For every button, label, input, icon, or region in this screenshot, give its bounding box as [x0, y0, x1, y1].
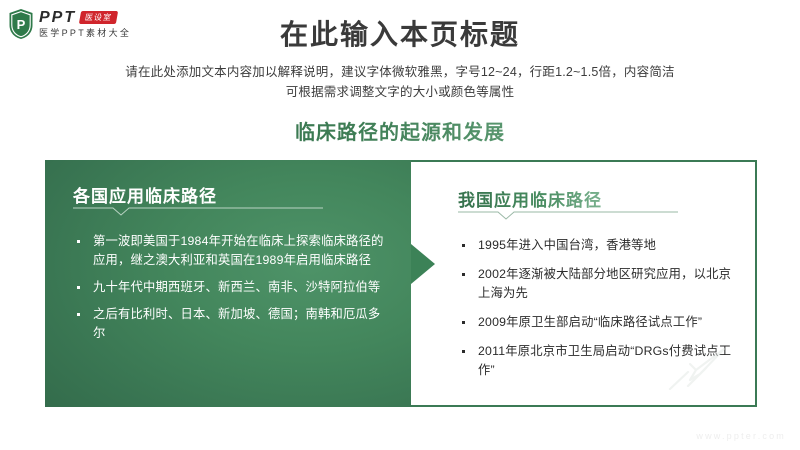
- heading-rule-icon: [73, 207, 323, 216]
- subtitle-line-1: 请在此处添加文本内容加以解释说明，建议字体微软雅黑，字号12~24，行距1.2~…: [0, 62, 800, 82]
- list-item: 1995年进入中国台湾，香港等地: [458, 236, 737, 255]
- heading-rule-icon: [458, 211, 678, 220]
- subtitle-line-2: 可根据需求调整文字的大小或颜色等属性: [0, 82, 800, 102]
- panel-countries-bullet-list: 第一波即美国于1984年开始在临床上探索临床路径的应用，继之澳大利亚和英国在19…: [73, 232, 389, 343]
- panel-countries-heading-text: 各国应用临床路径: [73, 182, 217, 207]
- panel-china-heading-text: 我国应用临床路径: [458, 186, 602, 211]
- arrow-right-icon: [411, 244, 435, 284]
- panel-countries: 各国应用临床路径 第一波即美国于1984年开始在临床上探索临床路径的应用，继之澳…: [45, 160, 411, 407]
- panel-china: 我国应用临床路径 1995年进入中国台湾，香港等地 2002年逐渐被大陆部分地区…: [398, 160, 757, 407]
- panel-china-heading: 我国应用临床路径: [458, 186, 737, 220]
- panel-china-bullet-list: 1995年进入中国台湾，香港等地 2002年逐渐被大陆部分地区研究应用，以北京上…: [458, 236, 737, 380]
- list-item: 第一波即美国于1984年开始在临床上探索临床路径的应用，继之澳大利亚和英国在19…: [73, 232, 389, 270]
- site-watermark: www.ppter.com: [696, 431, 786, 441]
- page-title: 在此输入本页标题: [0, 13, 800, 53]
- list-item: 九十年代中期西班牙、新西兰、南非、沙特阿拉伯等: [73, 278, 389, 297]
- page-subtitle: 请在此处添加文本内容加以解释说明，建议字体微软雅黑，字号12~24，行距1.2~…: [0, 62, 800, 102]
- section-heading: 临床路径的起源和发展: [0, 116, 800, 145]
- panel-countries-heading: 各国应用临床路径: [73, 182, 389, 216]
- list-item: 2011年原北京市卫生局启动“DRGs付费试点工作”: [458, 342, 737, 380]
- list-item: 之后有比利时、日本、新加坡、德国；南韩和厄瓜多尔: [73, 305, 389, 343]
- list-item: 2002年逐渐被大陆部分地区研究应用，以北京上海为先: [458, 265, 737, 303]
- content-panels: 我国应用临床路径 1995年进入中国台湾，香港等地 2002年逐渐被大陆部分地区…: [45, 160, 757, 407]
- list-item: 2009年原卫生部启动“临床路径试点工作”: [458, 313, 737, 332]
